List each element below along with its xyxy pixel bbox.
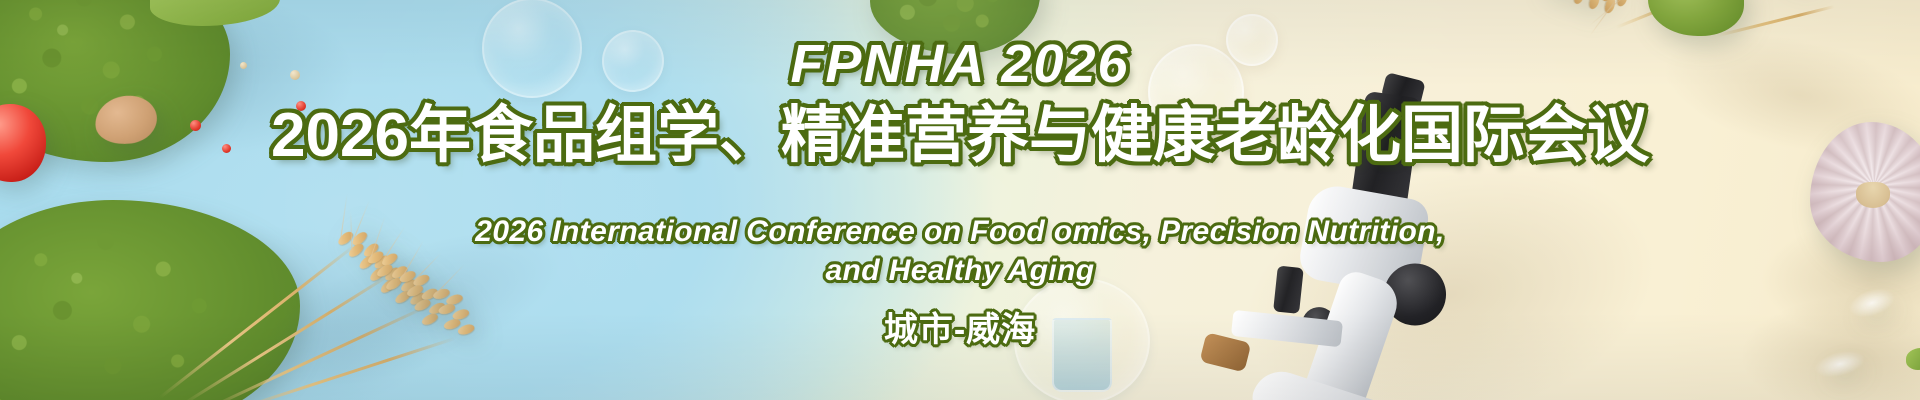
english-subtitle-line-2: and Healthy Aging (0, 255, 1920, 286)
acronym-title: FPNHA 2026 (0, 36, 1920, 92)
city-label: 城市-威海 (0, 313, 1920, 348)
english-subtitle-line-1: 2026 International Conference on Food om… (0, 216, 1920, 247)
chinese-title: 2026年食品组学、精准营养与健康老龄化国际会议 (0, 104, 1920, 168)
conference-banner: FPNHA 2026 2026年食品组学、精准营养与健康老龄化国际会议 2026… (0, 0, 1920, 400)
banner-text-block: FPNHA 2026 2026年食品组学、精准营养与健康老龄化国际会议 2026… (0, 0, 1920, 400)
